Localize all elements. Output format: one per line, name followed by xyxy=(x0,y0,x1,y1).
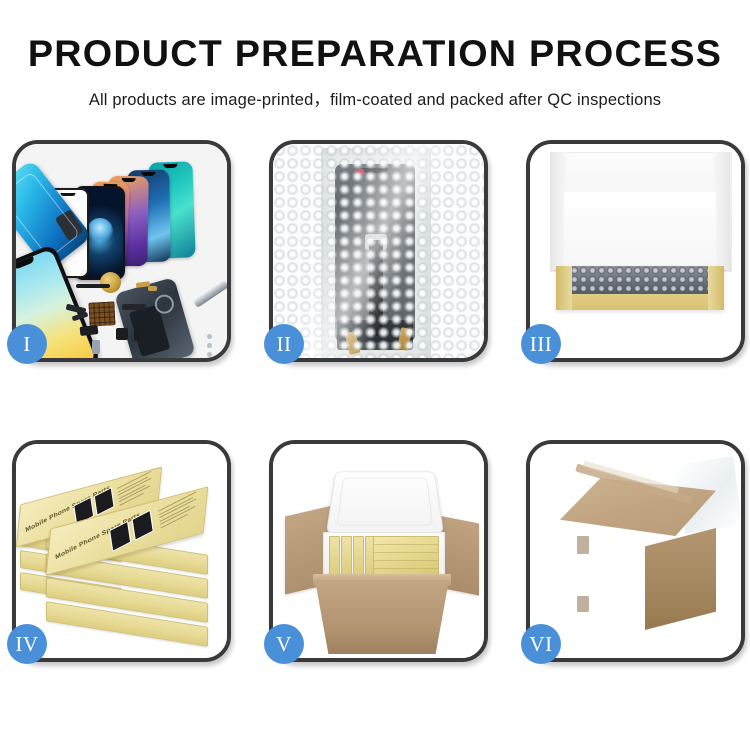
process-step-panel-6[interactable]: VI xyxy=(526,440,745,662)
retail-box-flat-group xyxy=(373,536,439,576)
step-4-image: Mobile Phone Spare Parts Mobile Phone Sp… xyxy=(16,444,227,658)
gold-contact-part xyxy=(148,286,157,291)
screws-group xyxy=(202,334,212,358)
process-step-grid: I II xyxy=(12,140,745,662)
step-2-image xyxy=(273,144,484,358)
grey-bubble-wrap-contents xyxy=(570,266,710,294)
page-subtitle: All products are image-printed，film-coat… xyxy=(0,72,750,110)
step-badge-1: I xyxy=(7,324,47,364)
page-title: PRODUCT PREPARATION PROCESS xyxy=(0,0,750,72)
bubble-wrap-texture xyxy=(273,144,484,358)
retail-box-stack: Mobile Phone Spare Parts Mobile Phone Sp… xyxy=(16,444,227,658)
earpiece-mesh-part xyxy=(76,284,110,288)
tray-side-right xyxy=(708,266,724,310)
white-foam-sheet xyxy=(564,192,716,268)
step-badge-4: IV xyxy=(7,624,47,664)
carton-front-face xyxy=(560,528,646,630)
header: PRODUCT PREPARATION PROCESS All products… xyxy=(0,0,750,110)
step-1-image xyxy=(16,144,227,358)
step-badge-3: III xyxy=(521,324,561,364)
retail-box-upright xyxy=(341,536,352,576)
foam-lid xyxy=(326,471,444,534)
flex-cable-part xyxy=(122,304,146,310)
step-badge-6: VI xyxy=(521,624,561,664)
tray-side-left xyxy=(556,266,572,310)
camera-module-part xyxy=(116,328,128,340)
small-ic-part xyxy=(134,330,143,341)
retail-box-upright xyxy=(353,536,364,576)
process-step-panel-2[interactable]: II xyxy=(269,140,488,362)
retail-box-upright xyxy=(329,536,340,576)
carton-flap-tab xyxy=(577,536,589,554)
carton-body xyxy=(315,580,449,654)
process-step-panel-3[interactable]: III xyxy=(526,140,745,362)
carton-flap-tab xyxy=(577,596,589,612)
step-badge-2: II xyxy=(264,324,304,364)
carton-side-face xyxy=(645,528,716,630)
lid-flap-right xyxy=(714,152,730,270)
step-6-image xyxy=(530,444,741,658)
step-3-image xyxy=(530,144,741,358)
process-step-panel-4[interactable]: Mobile Phone Spare Parts Mobile Phone Sp… xyxy=(12,440,231,662)
step-badge-5: V xyxy=(264,624,304,664)
speaker-part xyxy=(80,325,99,336)
connector-grid-chip xyxy=(88,301,115,326)
step-5-image xyxy=(273,444,484,658)
sim-tray-part xyxy=(92,340,100,354)
tweezers-tool xyxy=(193,280,227,308)
process-step-panel-1[interactable]: I xyxy=(12,140,231,362)
process-step-panel-5[interactable]: V xyxy=(269,440,488,662)
product-preparation-infographic: PRODUCT PREPARATION PROCESS All products… xyxy=(0,0,750,750)
box-spec-lines xyxy=(158,490,201,530)
